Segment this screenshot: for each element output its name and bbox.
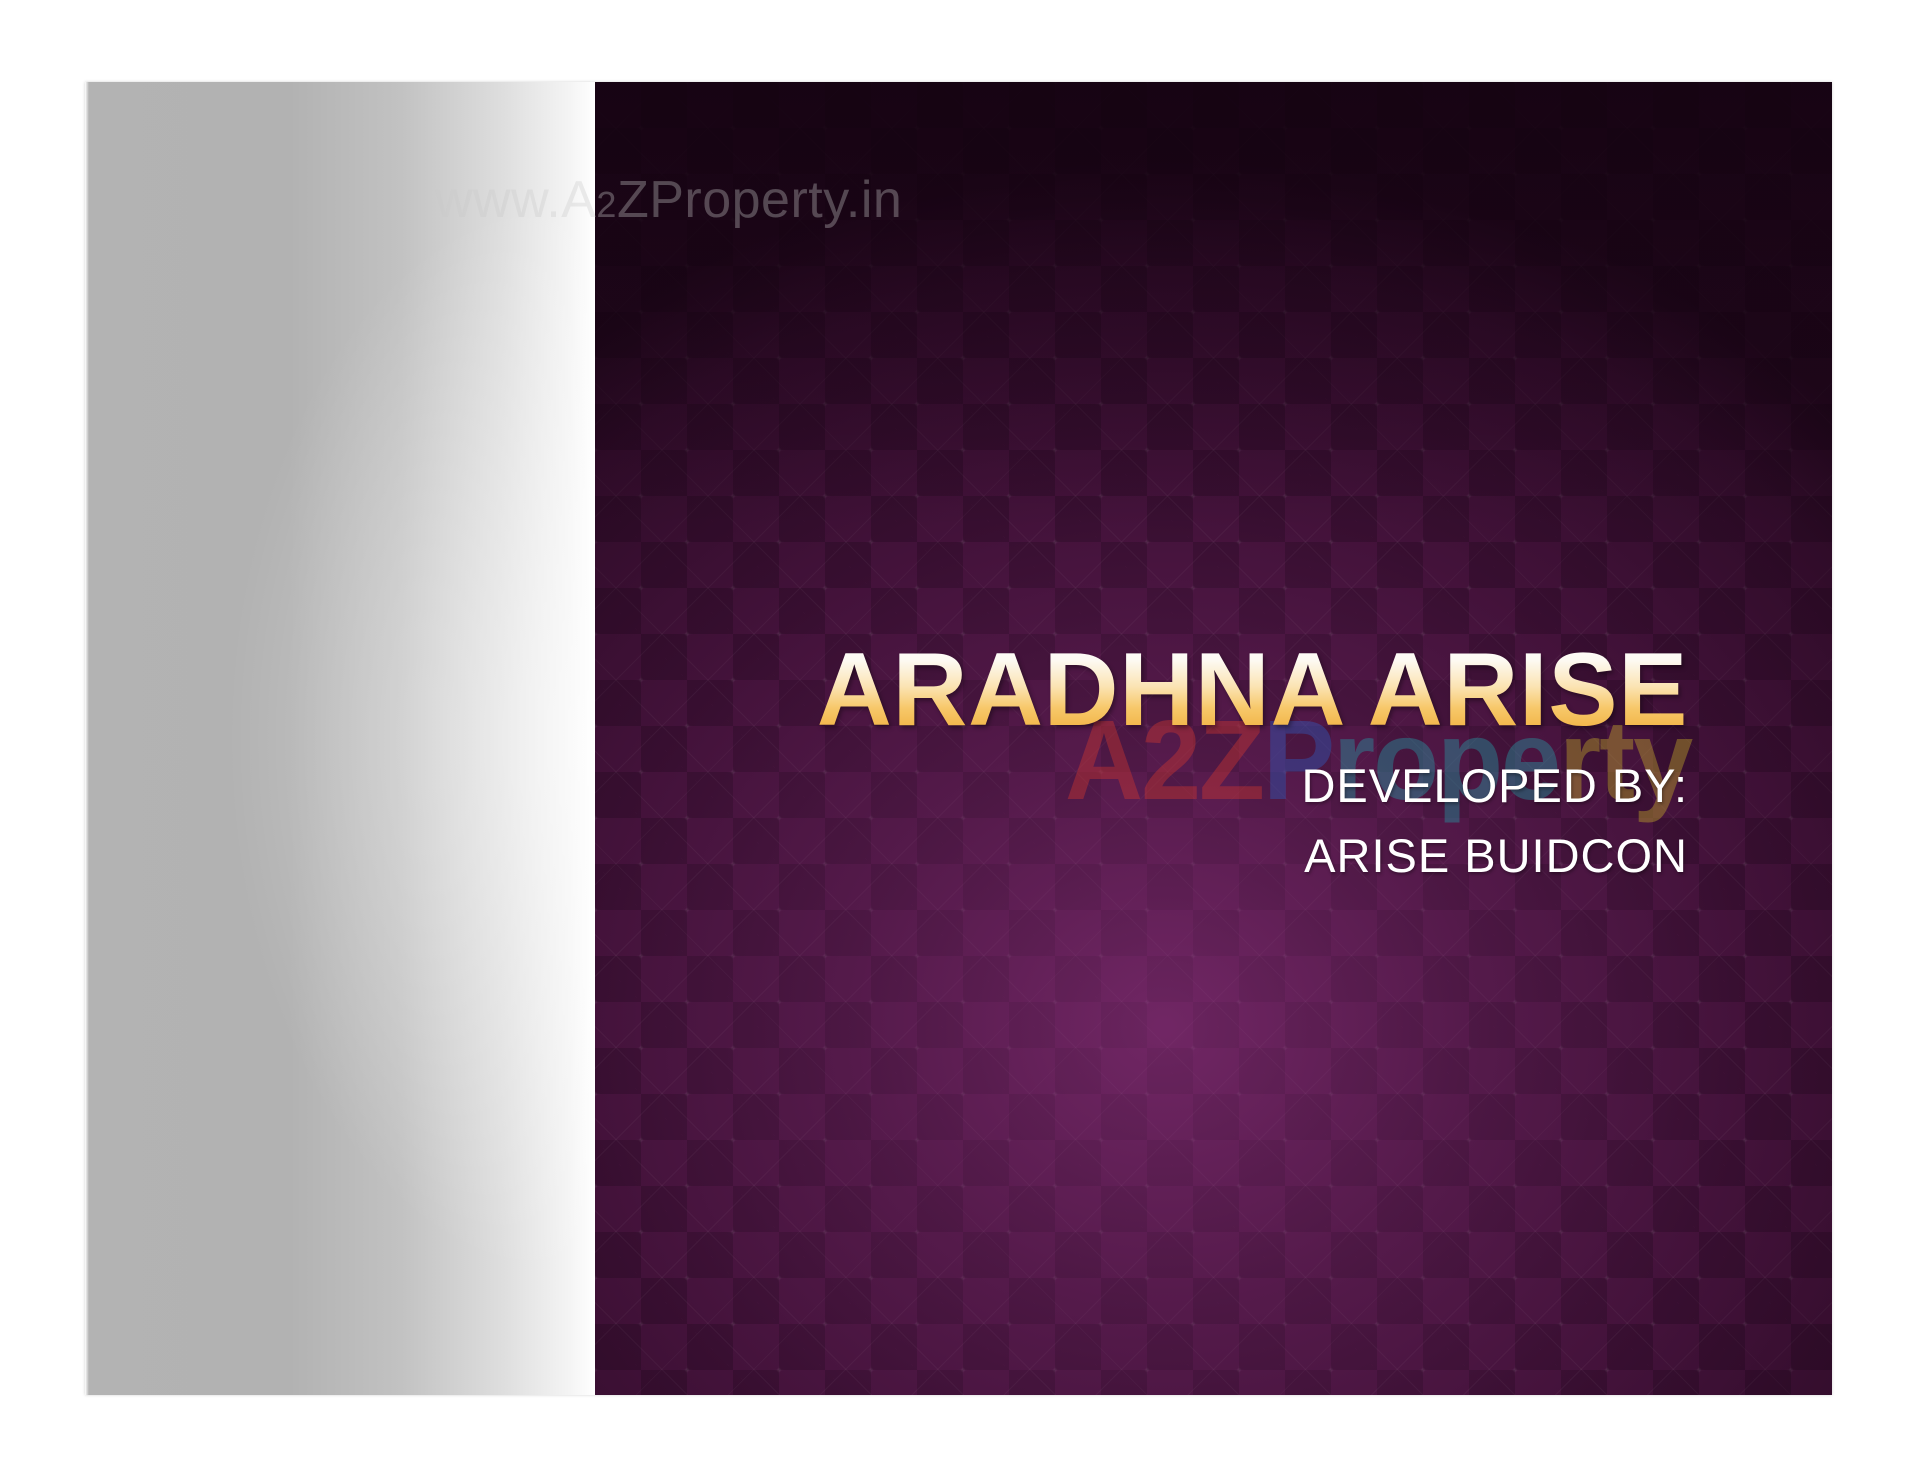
url-watermark: www.A2ZProperty.in xyxy=(435,170,902,230)
presentation-slide[interactable]: www.A2ZProperty.in www.A2ZProperty.in A2… xyxy=(85,82,1832,1395)
page-title: Aradhna Arise xyxy=(817,636,1688,745)
left-silver-panel xyxy=(85,82,595,1395)
url-watermark-prefix: www.A xyxy=(435,171,596,229)
page-canvas: www.A2ZProperty.in www.A2ZProperty.in A2… xyxy=(0,0,1920,1483)
subtitle-line-company: Arise Buidcon xyxy=(1304,828,1688,883)
subtitle-line-developed-by: Developed by: xyxy=(1301,758,1688,813)
url-watermark-suffix: ZProperty.in xyxy=(617,171,902,229)
url-watermark-subscript: 2 xyxy=(596,184,617,225)
